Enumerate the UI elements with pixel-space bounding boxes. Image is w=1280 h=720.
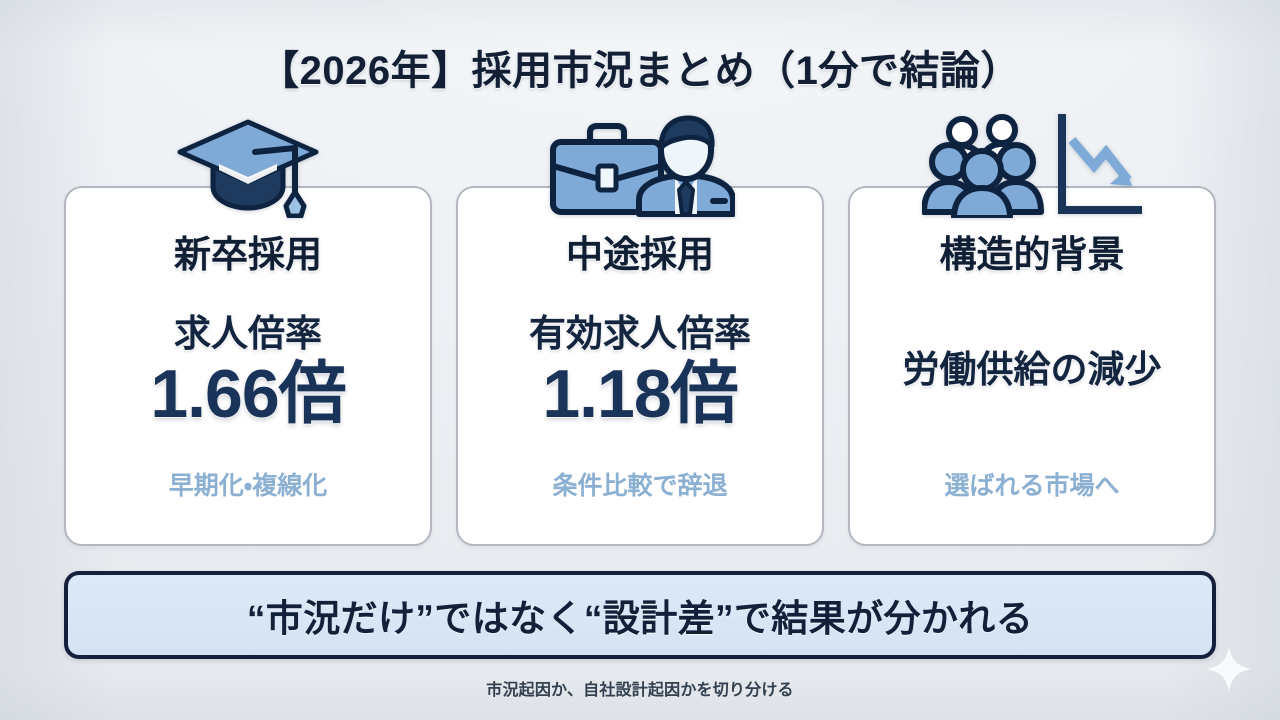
graduation-cap-icon	[128, 114, 368, 218]
conclusion-banner[interactable]: “市況だけ”ではなく“設計差”で結果が分かれる	[64, 571, 1216, 659]
footer-note: 市況起因か、自社設計起因かを切り分ける	[0, 676, 1280, 700]
card-metric-label: 有効求人倍率	[529, 315, 751, 352]
card-note: 条件比較で辞退	[458, 466, 822, 502]
card-mid-career-hiring[interactable]: 中途採用 有効求人倍率 1.18倍 条件比較で辞退	[456, 186, 824, 546]
card-metric-value: 1.66倍	[150, 358, 345, 430]
summary-card-row: 新卒採用 求人倍率 1.66倍 早期化・複線化	[64, 186, 1216, 546]
card-structural-background[interactable]: 構造的背景 労働供給の減少 選ばれる市場へ	[848, 186, 1216, 546]
slide-canvas: 【2026年】採用市況まとめ（1分で結論） 新卒採用	[0, 0, 1280, 720]
card-heading: 構造的背景	[940, 236, 1125, 273]
card-heading: 中途採用	[566, 236, 714, 273]
card-note: 選ばれる市場へ	[850, 466, 1214, 502]
people-declining-chart-icon	[912, 114, 1152, 218]
card-statement: 労働供給の減少	[903, 351, 1162, 388]
card-heading: 新卒採用	[174, 236, 322, 273]
card-new-graduate-hiring[interactable]: 新卒採用 求人倍率 1.66倍 早期化・複線化	[64, 186, 432, 546]
page-title: 【2026年】採用市況まとめ（1分で結論）	[0, 38, 1280, 96]
card-metric-value: 1.18倍	[542, 358, 737, 430]
briefcase-businessman-icon	[520, 114, 760, 218]
card-metric-label: 求人倍率	[174, 315, 322, 352]
conclusion-banner-text: “市況だけ”ではなく“設計差”で結果が分かれる	[247, 588, 1033, 642]
card-note: 早期化・複線化	[66, 466, 430, 502]
